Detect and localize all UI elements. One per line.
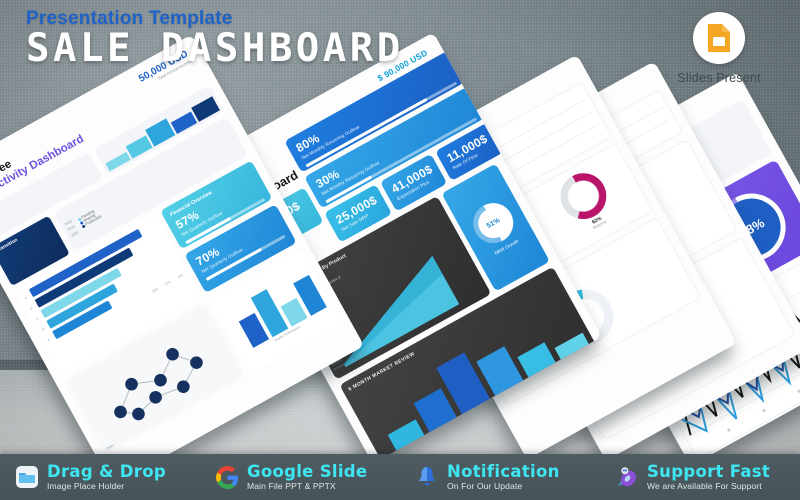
screenshot-stage: 30,000 USD 9% Revenue Overall Goal Compl… [0, 0, 800, 500]
feature-notification[interactable]: Notification On For Our Update [400, 463, 600, 491]
feature-bar: Drag & Drop Image Place Holder Google Sl… [0, 454, 800, 500]
feature-subtitle: Image Place Holder [47, 481, 166, 491]
feature-drag-and-drop[interactable]: Drag & Drop Image Place Holder [0, 463, 200, 491]
feature-support-fast[interactable]: Support Fast We are Available For Suppor… [600, 463, 800, 491]
google-slides-icon [693, 12, 745, 64]
page-title: SALE DASHBOARD [26, 29, 404, 70]
feature-title: Google Slide [247, 463, 367, 480]
feature-google-slide[interactable]: Google Slide Main File PPT & PPTX [200, 463, 400, 491]
brand-badge[interactable]: Slides Present [660, 12, 778, 85]
bar-label: 14% [177, 273, 185, 280]
feature-subtitle: On For Our Update [447, 481, 560, 491]
bar-label: 17% [164, 280, 172, 287]
bar-label: 20% [152, 287, 160, 294]
page-title-block: Presentation Template SALE DASHBOARD [26, 8, 404, 70]
feature-title: Notification [447, 463, 560, 480]
feature-subtitle: Main File PPT & PPTX [247, 481, 367, 491]
bell-icon [414, 464, 440, 490]
rocket-robot-icon [614, 464, 640, 490]
feature-subtitle: We are Available For Support [647, 481, 770, 491]
feature-title: Support Fast [647, 463, 770, 480]
feature-title: Drag & Drop [47, 463, 166, 480]
folder-icon [14, 464, 40, 490]
brand-label: Slides Present [660, 71, 778, 85]
google-g-icon [214, 464, 240, 490]
kpi-value: 51% [485, 217, 501, 230]
